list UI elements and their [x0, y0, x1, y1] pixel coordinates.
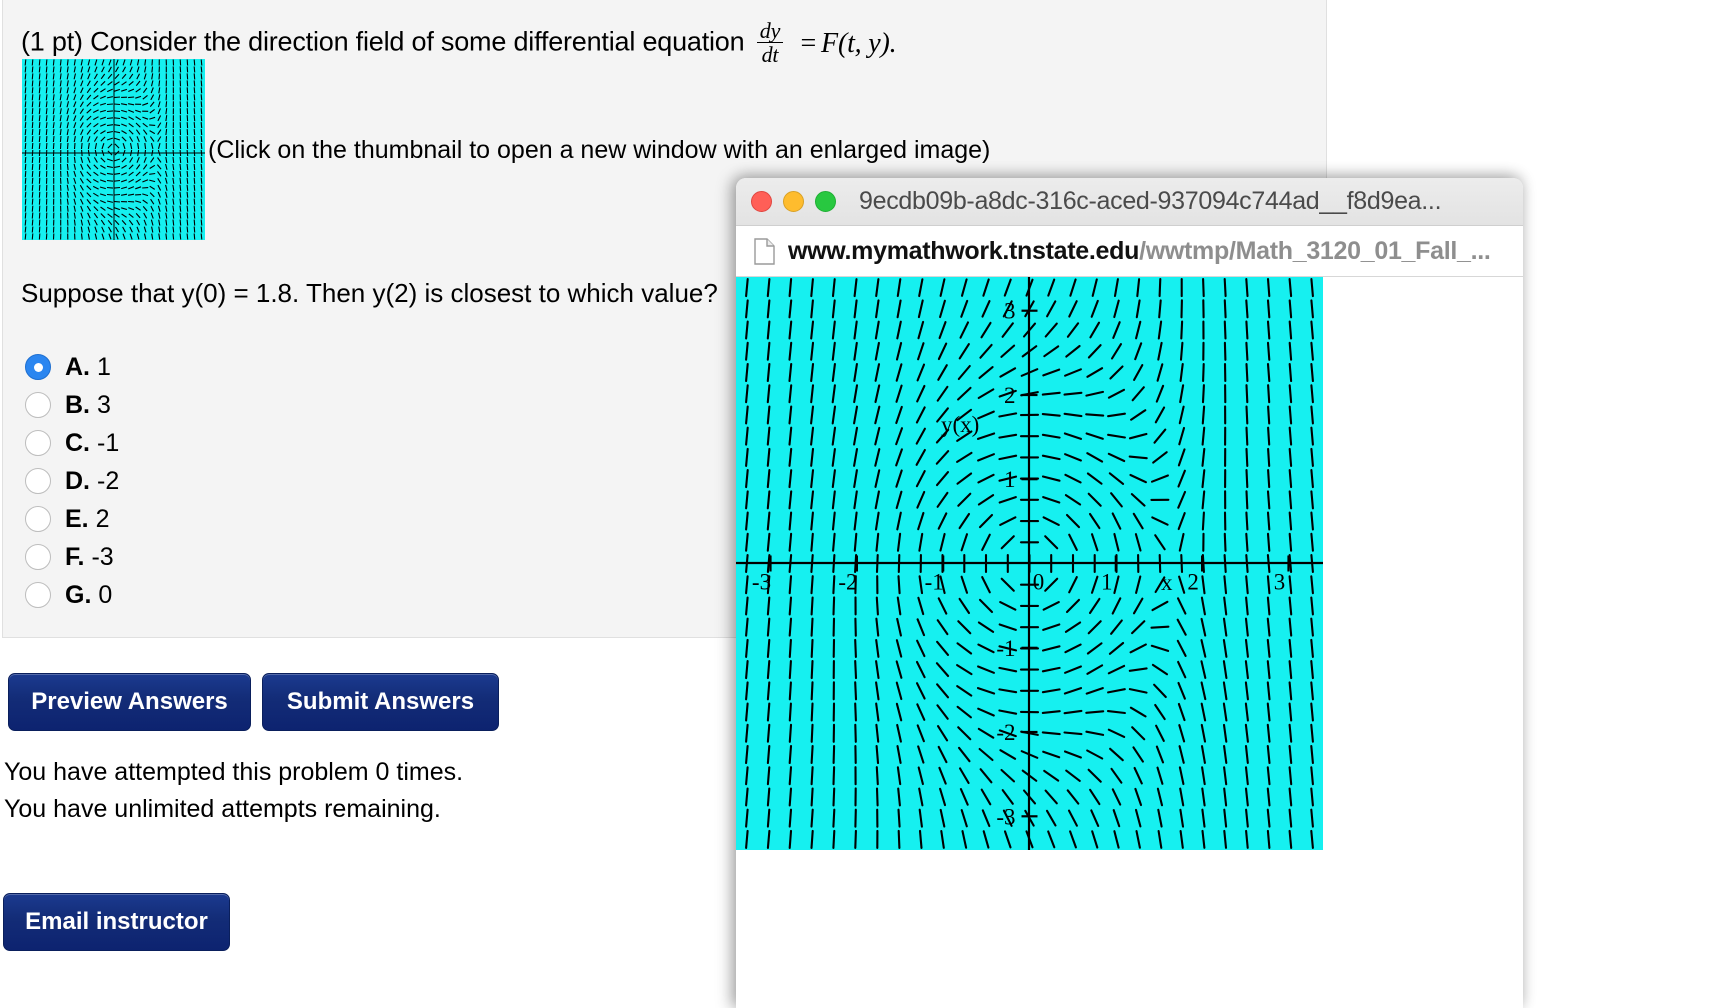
- svg-text:2: 2: [1187, 570, 1199, 595]
- window-title: 9ecdb09b-a8dc-316c-aced-937094c744ad__f8…: [859, 187, 1441, 216]
- url-display: www.mymathwork.tnstate.edu/wwtmp/Math_31…: [788, 237, 1491, 266]
- direction-field-svg: -3-2-10123-3-2-1123 y(x) x: [736, 277, 1323, 850]
- radio-b[interactable]: [25, 392, 51, 418]
- email-instructor-button[interactable]: Email instructor: [3, 893, 230, 951]
- svg-text:2: 2: [1004, 383, 1016, 408]
- choice-a-value: 1: [97, 353, 111, 382]
- choice-a[interactable]: A. 1: [25, 348, 119, 386]
- x-axis-label: x: [1161, 570, 1173, 595]
- radio-g[interactable]: [25, 582, 51, 608]
- svg-text:-1: -1: [925, 570, 944, 595]
- points-label: (1 pt): [21, 27, 83, 57]
- svg-text:-3: -3: [752, 570, 771, 595]
- svg-text:1: 1: [1004, 467, 1016, 492]
- screen: (1 pt) Consider the direction field of s…: [0, 0, 1720, 1008]
- choice-e[interactable]: E. 2: [25, 500, 119, 538]
- svg-text:-1: -1: [996, 636, 1015, 661]
- choices-list: A. 1 B. 3 C. -1 D. -2 E. 2: [25, 348, 119, 614]
- submit-answers-button[interactable]: Submit Answers: [262, 673, 499, 731]
- svg-text:3: 3: [1274, 570, 1286, 595]
- choice-d-value: -2: [97, 467, 119, 496]
- equals-sign: =: [800, 28, 816, 59]
- window-titlebar[interactable]: 9ecdb09b-a8dc-316c-aced-937094c744ad__f8…: [736, 178, 1523, 226]
- radio-f[interactable]: [25, 544, 51, 570]
- minimize-icon[interactable]: [783, 191, 804, 212]
- choice-g[interactable]: G. 0: [25, 576, 119, 614]
- radio-d[interactable]: [25, 468, 51, 494]
- y-axis-label: y(x): [941, 412, 979, 437]
- svg-text:-3: -3: [996, 804, 1015, 829]
- choice-a-letter: A.: [65, 353, 90, 382]
- svg-text:3: 3: [1004, 299, 1016, 324]
- thumbnail-hint: (Click on the thumbnail to open a new wi…: [208, 136, 990, 165]
- zoom-icon[interactable]: [815, 191, 836, 212]
- fraction-numerator: dy: [757, 19, 783, 42]
- url-host: www.mymathwork.tnstate.edu: [788, 237, 1139, 265]
- direction-field-thumbnail[interactable]: [22, 59, 205, 240]
- thumbnail-plot-svg: [22, 59, 205, 240]
- choice-b[interactable]: B. 3: [25, 386, 119, 424]
- choice-g-value: 0: [98, 581, 112, 610]
- equation-tail: =F(t, y).: [795, 28, 896, 59]
- remaining-status: You have unlimited attempts remaining.: [4, 795, 441, 824]
- radio-c[interactable]: [25, 430, 51, 456]
- svg-text:-2: -2: [996, 720, 1015, 745]
- choice-c-letter: C.: [65, 429, 90, 458]
- radio-e[interactable]: [25, 506, 51, 532]
- svg-text:1: 1: [1101, 570, 1113, 595]
- choice-f-value: -3: [91, 543, 113, 572]
- choice-c[interactable]: C. -1: [25, 424, 119, 462]
- choice-g-letter: G.: [65, 581, 91, 610]
- plot-container: -3-2-10123-3-2-1123 y(x) x: [736, 277, 1523, 1008]
- attempts-status: You have attempted this problem 0 times.: [4, 758, 463, 787]
- prompt-text: Consider the direction field of some dif…: [90, 27, 744, 57]
- svg-text:0: 0: [1033, 570, 1045, 595]
- direction-field-plot: -3-2-10123-3-2-1123 y(x) x: [736, 277, 1323, 850]
- choice-c-value: -1: [97, 429, 119, 458]
- derivative-fraction: dy dt: [757, 19, 783, 66]
- fraction-denominator: dt: [757, 42, 783, 66]
- choice-e-value: 2: [96, 505, 110, 534]
- equation-rhs: F(t, y).: [821, 28, 896, 59]
- close-icon[interactable]: [751, 191, 772, 212]
- traffic-lights: [751, 191, 847, 212]
- svg-text:-2: -2: [838, 570, 857, 595]
- radio-a[interactable]: [25, 354, 51, 380]
- choice-b-value: 3: [97, 391, 111, 420]
- url-bar[interactable]: www.mymathwork.tnstate.edu/wwtmp/Math_31…: [736, 226, 1523, 277]
- browser-window: 9ecdb09b-a8dc-316c-aced-937094c744ad__f8…: [736, 178, 1523, 1008]
- choice-f[interactable]: F. -3: [25, 538, 119, 576]
- choice-f-letter: F.: [65, 543, 84, 572]
- choice-b-letter: B.: [65, 391, 90, 420]
- choice-e-letter: E.: [65, 505, 89, 534]
- page-icon: [754, 238, 775, 265]
- choice-d-letter: D.: [65, 467, 90, 496]
- question-text: Suppose that y(0) = 1.8. Then y(2) is cl…: [21, 278, 718, 309]
- url-path: /wwtmp/Math_3120_01_Fall_...: [1139, 237, 1490, 265]
- choice-d[interactable]: D. -2: [25, 462, 119, 500]
- preview-answers-button[interactable]: Preview Answers: [8, 673, 251, 731]
